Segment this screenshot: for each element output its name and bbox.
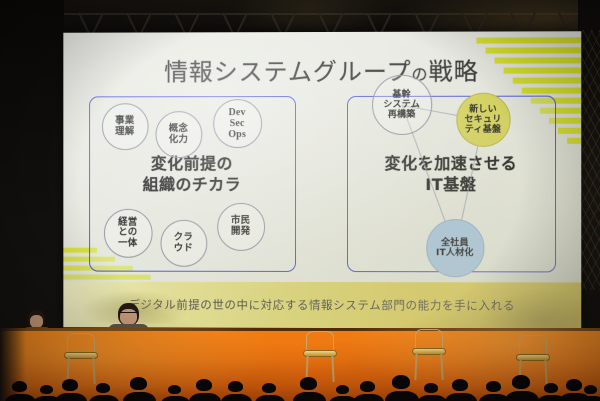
audience-head [452,379,468,391]
audience-head [300,377,317,390]
left-box-heading-line1: 変化前提の [90,153,295,174]
wall-mesh-texture [578,30,600,290]
audience-head [40,385,53,394]
audience-shoulder [445,393,477,401]
left-box-heading: 変化前提の 組織のチカラ [90,153,295,195]
circle-cloud: クラウド [160,220,207,267]
slide-title: 情報システムグループの戦略 [63,51,581,87]
audience-silhouettes [0,367,600,401]
right-box-heading-line2: IT基盤 [348,174,555,195]
stage-floor [0,328,600,401]
accent-stripe [476,37,581,43]
audience-shoulder [577,396,600,401]
truss-diagonal [126,13,137,34]
audience-shoulder [417,395,447,401]
audience-shoulder [385,391,419,401]
circle-zensyain-it-jinzaika: 全社員IT人材化 [426,219,484,277]
right-box-heading-line1: 変化を加速させる [348,153,555,174]
stool-backrest [67,333,95,353]
audience-head [130,377,147,390]
audience-head [392,375,410,389]
audience-head [196,379,212,391]
truss-diagonal [174,13,185,34]
audience-shoulder [255,395,285,401]
audience-head [544,383,558,393]
conference-photo: 情報システムグループの戦略 変化前提の 組織のチカラ 事業理解 概念化力 Dev… [0,0,600,401]
truss-diagonal [140,13,151,34]
audience-head [96,383,110,393]
audience-shoulder [293,392,326,401]
circle-shimin-kaihatsu: 市民開発 [217,203,265,251]
presenter-glasses [119,312,138,317]
circle-jigyou-rikai: 事業理解 [101,103,148,150]
circle-keiei-ittai: 経営との一体 [103,209,152,258]
audience-head [262,383,276,393]
truss-diagonal [78,13,89,34]
audience-head [424,383,438,393]
audience-head [336,385,349,394]
right-box-heading: 変化を加速させる IT基盤 [348,153,555,195]
audience-head [228,381,243,392]
audience-shoulder [505,391,539,401]
audience-shoulder [161,396,190,401]
slide-title-tail: 戦略 [429,58,479,86]
truss-diagonal [92,13,103,34]
audience-shoulder [221,394,252,401]
audience-shoulder [123,392,156,401]
circle-kikan-system-saikouchiku: 基幹システム再構築 [372,75,432,135]
audience-head [62,379,78,391]
circle-atarashii-security-kiban: 新しいセキュリティ基盤 [456,93,510,147]
circle-devsecops: DevSecOps [213,99,262,148]
truss-diagonal [188,13,199,34]
stool-backrest [306,331,334,351]
slide-title-main: 情報システムグループ [164,58,411,87]
left-box-heading-line2: 組織のチカラ [90,174,295,195]
projection-screen: 情報システムグループの戦略 変化前提の 組織のチカラ 事業理解 概念化力 Dev… [63,31,581,328]
audience-shoulder [189,393,221,401]
audience-shoulder [55,393,87,401]
slide-bottom-banner: デジタル前提の世の中に対応する情報システム部門の能力を手に入れる [63,281,581,328]
hall-wall-left [0,0,64,330]
concept-box-organization: 変化前提の 組織のチカラ 事業理解 概念化力 DevSecOps 経営との一体 … [89,96,296,272]
audience-shoulder [5,394,36,401]
audience-head [566,379,582,391]
audience-head [168,385,181,394]
audience-shoulder [353,394,384,401]
concept-box-row: 変化前提の 組織のチカラ 事業理解 概念化力 DevSecOps 経営との一体 … [63,96,581,282]
audience-head [486,381,501,392]
audience-head [584,385,597,394]
accent-stripe [522,88,582,94]
audience-head [512,375,530,389]
audience-head [360,381,375,392]
stool-backrest [519,335,547,355]
circle-gainen-karyoku: 概念化力 [155,111,202,158]
hall-wall-right [578,0,600,330]
concept-box-it-platform: 変化を加速させる IT基盤 基幹システム再構築 新しいセキュリティ基盤 全社員I… [347,96,556,273]
slide-banner-text: デジタル前提の世の中に対応する情報システム部門の能力を手に入れる [128,297,515,314]
audience-head [12,381,27,392]
stool-backrest [415,329,443,349]
audience-shoulder [89,395,119,401]
